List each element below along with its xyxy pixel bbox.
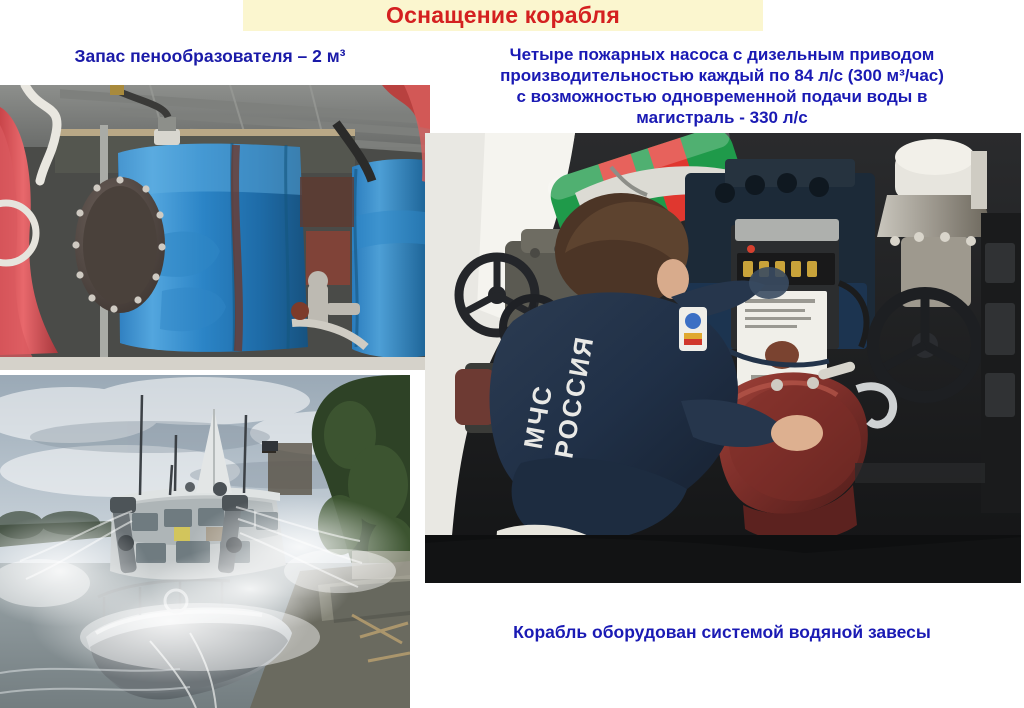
fire-pumps-photo: МЧС РОССИЯ: [425, 133, 1021, 583]
slide-root: Оснащение корабля Запас пенообразователя…: [0, 0, 1024, 708]
pump-specs-line-1: Четыре пожарных насоса с дизельным приво…: [424, 44, 1020, 65]
water-curtain-boat-photo: [0, 375, 410, 708]
page-title: Оснащение корабля: [243, 1, 763, 30]
water-curtain-caption: Корабль оборудован системой водяной заве…: [424, 622, 1020, 643]
foam-reserve-heading-text: Запас пенообразователя – 2 м³: [75, 46, 346, 66]
pump-specs-line-2: производительностью каждый по 84 л/с (30…: [424, 65, 1020, 86]
pump-specs-heading: Четыре пожарных насоса с дизельным приво…: [424, 44, 1020, 128]
pump-specs-line-3: с возможностью одновременной подачи воды…: [424, 86, 1020, 107]
foam-reserve-heading: Запас пенообразователя – 2 м³: [10, 46, 410, 67]
pump-specs-line-4: магистраль - 330 л/с: [424, 107, 1020, 128]
foam-tanks-photo: [0, 85, 430, 370]
